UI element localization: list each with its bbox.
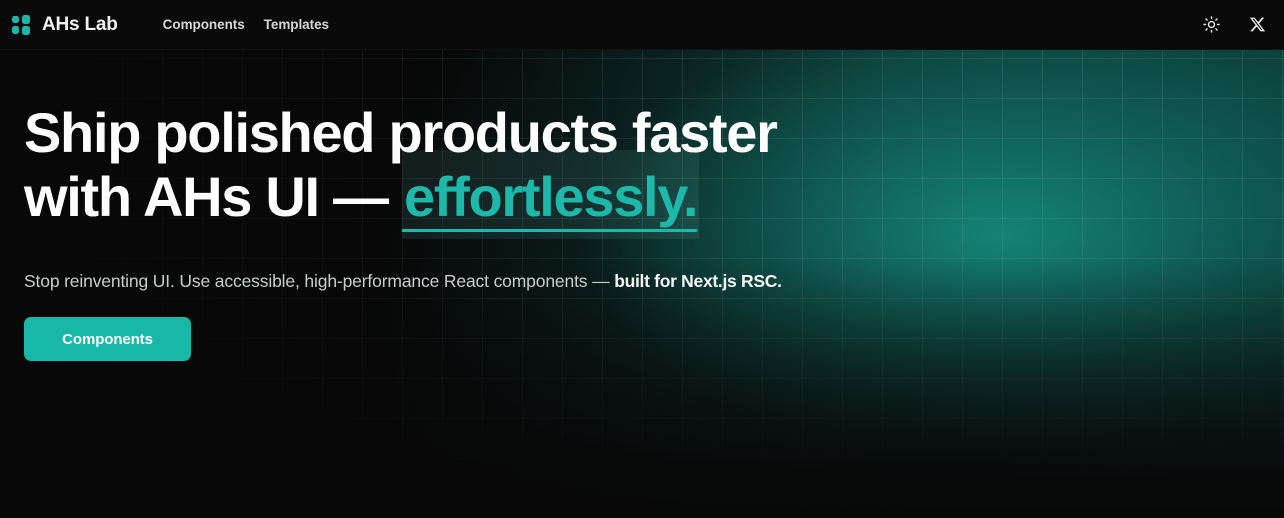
x-twitter-icon (1249, 16, 1266, 33)
landing-page: AHs Lab Components Templates (0, 0, 1284, 518)
nav-item-templates[interactable]: Templates (264, 17, 329, 32)
components-cta-button[interactable]: Components (24, 317, 191, 361)
x-twitter-link-button[interactable] (1244, 12, 1270, 38)
headline-line-2-prefix: with AHs UI — (24, 165, 402, 228)
headline-line-2: with AHs UI — effortlessly. (24, 165, 777, 229)
brand-logo-link[interactable]: AHs Lab (8, 12, 122, 38)
grid-squares-logo-icon (12, 15, 32, 35)
hero-section: Ship polished products faster with AHs U… (0, 50, 1284, 518)
site-header: AHs Lab Components Templates (0, 0, 1284, 50)
hero-content: Ship polished products faster with AHs U… (24, 50, 1174, 518)
header-actions (1198, 12, 1270, 38)
headline-line-1: Ship polished products faster (24, 101, 777, 165)
sun-icon (1203, 16, 1220, 33)
subheading-normal-text: Stop reinventing UI. Use accessible, hig… (24, 271, 614, 291)
brand-name: AHs Lab (42, 15, 118, 34)
subheading-strong-text: built for Next.js RSC. (614, 271, 781, 291)
nav-item-components[interactable]: Components (163, 17, 245, 32)
theme-toggle-button[interactable] (1198, 12, 1224, 38)
primary-nav: Components Templates (163, 17, 329, 32)
hero-subheading: Stop reinventing UI. Use accessible, hig… (24, 268, 782, 294)
hero-headline: Ship polished products faster with AHs U… (24, 101, 777, 229)
headline-accent-link[interactable]: effortlessly. (402, 165, 699, 229)
